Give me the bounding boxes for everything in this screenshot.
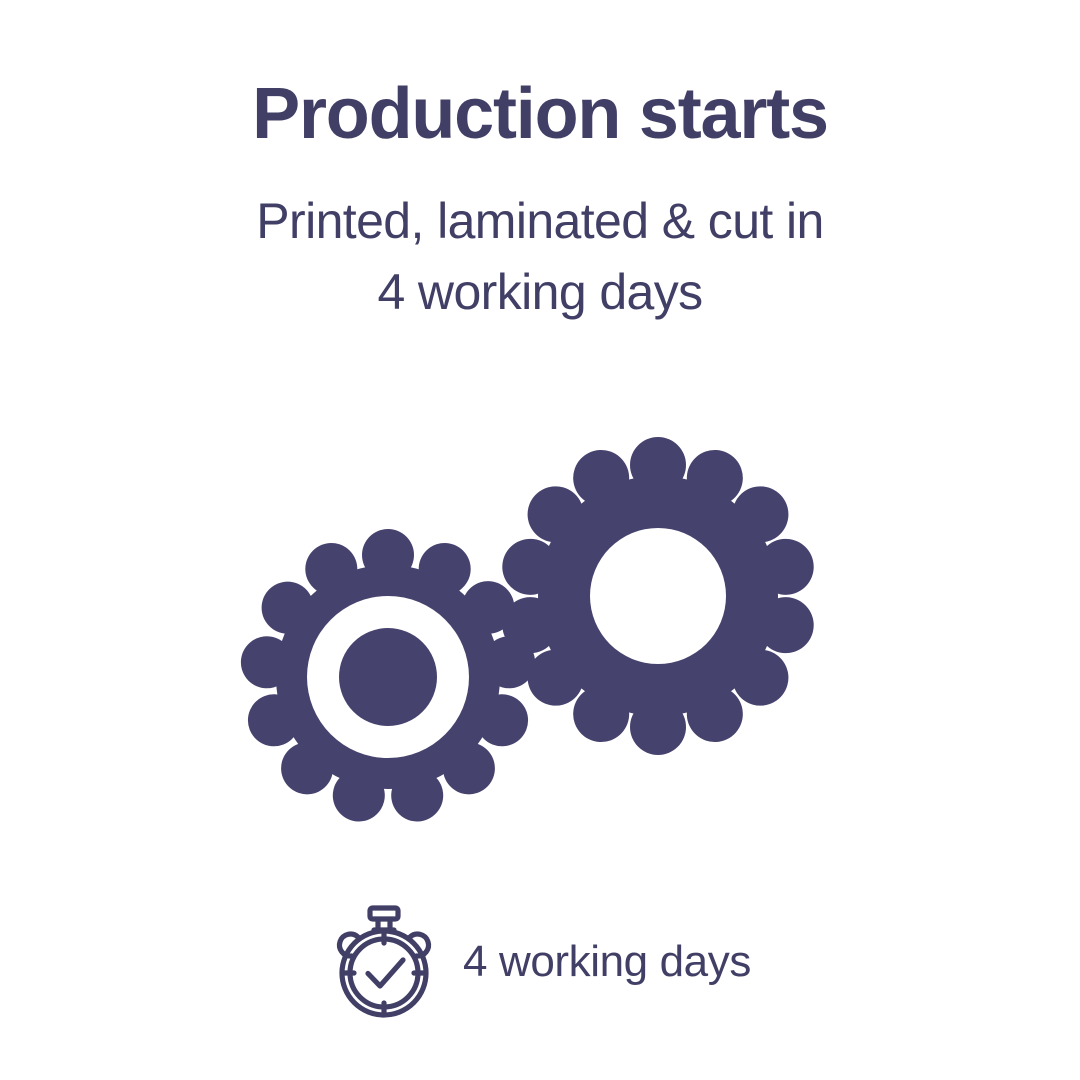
turnaround-badge: 4 working days xyxy=(0,902,1080,1022)
subtitle-line-2: 4 working days xyxy=(0,257,1080,328)
page-title: Production starts xyxy=(0,78,1080,150)
turnaround-label: 4 working days xyxy=(463,940,751,984)
heading-block: Production starts Printed, laminated & c… xyxy=(0,0,1080,328)
subtitle-line-1: Printed, laminated & cut in xyxy=(0,186,1080,257)
gears-illustration xyxy=(0,424,1080,824)
stopwatch-check-icon xyxy=(329,902,439,1022)
page-subtitle: Printed, laminated & cut in 4 working da… xyxy=(0,150,1080,328)
gears-svg xyxy=(230,424,850,824)
production-starts-card: Production starts Printed, laminated & c… xyxy=(0,0,1080,1080)
stopwatch-checkmark xyxy=(368,960,403,986)
stopwatch-inner-dial xyxy=(350,939,418,1007)
stopwatch-crown-bar xyxy=(370,908,398,919)
small-gear xyxy=(230,424,850,824)
